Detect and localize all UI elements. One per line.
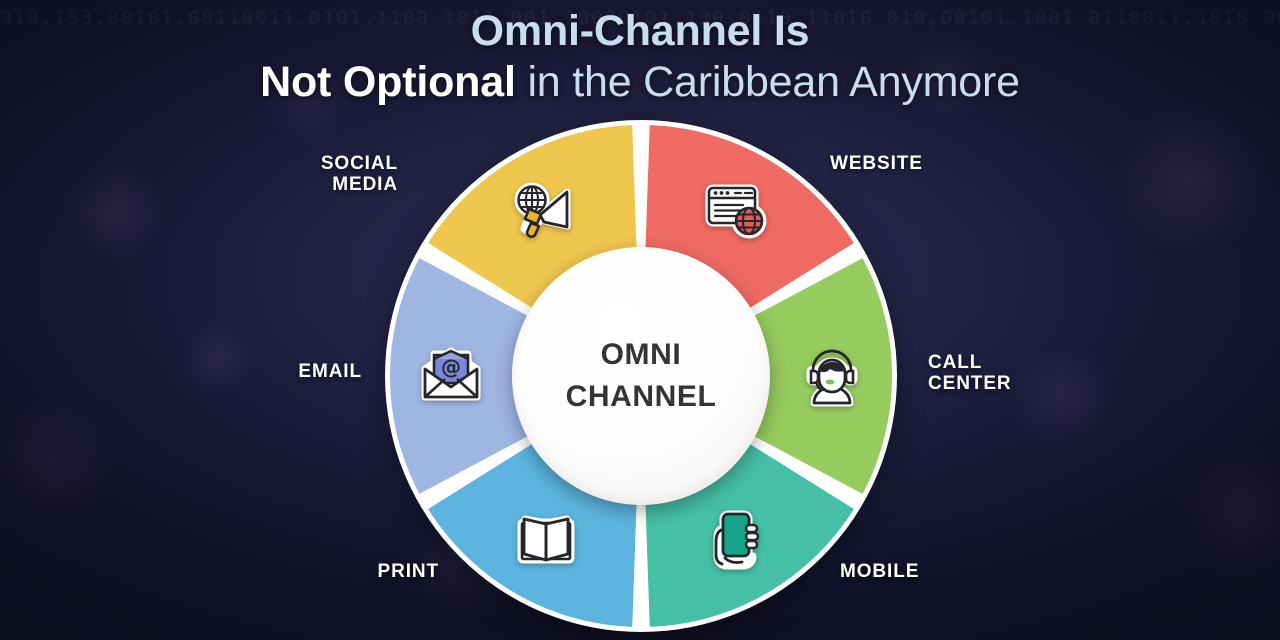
wheel-label-mobile[interactable]: MOBILE [840, 561, 919, 582]
svg-text:@: @ [441, 355, 461, 379]
wheel-label-social-media[interactable]: SOCIAL MEDIA [321, 153, 398, 195]
wheel-label-email[interactable]: EMAIL [298, 361, 362, 382]
browser-window-globe-icon[interactable] [699, 174, 773, 248]
title-remainder: in the Caribbean Anymore [516, 58, 1020, 106]
wheel-hub: OMNI CHANNEL [512, 247, 770, 505]
hand-holding-phone-icon[interactable] [699, 504, 773, 578]
hub-line-1: OMNI [601, 334, 682, 376]
title-emphasis: Not Optional [260, 58, 516, 106]
headset-agent-icon[interactable] [795, 339, 869, 413]
megaphone-globe-icon[interactable] [509, 174, 583, 248]
slide-title: Omni-Channel Is Not Optional in the Cari… [0, 6, 1280, 108]
open-book-icon[interactable] [509, 504, 583, 578]
title-line-1: Omni-Channel Is [0, 6, 1280, 56]
title-line-2: Not Optional in the Caribbean Anymore [0, 56, 1280, 108]
wheel-label-website[interactable]: WEBSITE [830, 153, 923, 174]
wheel-label-print[interactable]: PRINT [378, 561, 440, 582]
hub-line-2: CHANNEL [566, 376, 717, 418]
omni-channel-wheel: OMNI CHANNEL [383, 118, 899, 634]
open-envelope-at-icon[interactable]: @ [414, 339, 488, 413]
wheel-label-call-center[interactable]: CALL CENTER [928, 352, 1012, 394]
